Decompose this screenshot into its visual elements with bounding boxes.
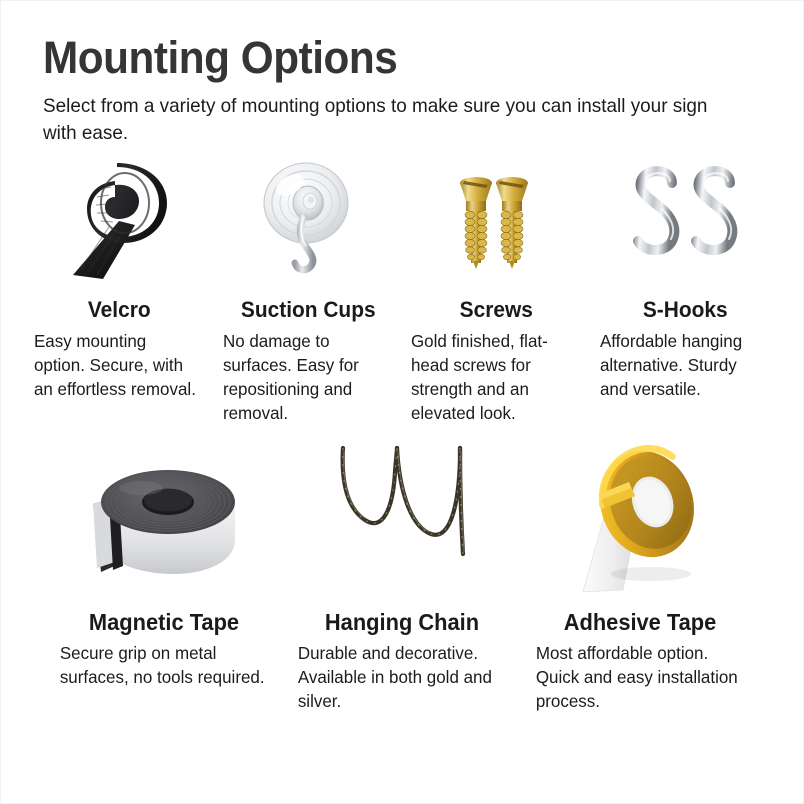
adhesive-tape-roll-icon [530,439,750,599]
option-magnetic-tape[interactable]: Magnetic Tape Secure grip on metal surfa… [45,439,283,713]
velcro-strap-icon [32,157,207,287]
option-description: No damage to surfaces. Easy for repositi… [221,329,390,425]
header: Mounting Options Select from a variety o… [1,1,803,147]
s-hooks-icon [598,157,773,287]
magnetic-tape-roll-icon [54,439,274,599]
suction-cup-hook-icon [221,157,396,287]
hanging-chain-icon [292,439,512,599]
option-description: Durable and decorative. Available in bot… [292,641,505,713]
page-subtitle: Select from a variety of mounting option… [43,93,712,147]
option-velcro[interactable]: Velcro Easy mounting option. Secure, wit… [25,157,214,425]
option-title: Velcro [36,297,202,323]
option-adhesive-tape[interactable]: Adhesive Tape Most affordable option. Qu… [521,439,759,713]
mounting-options-row-1: Velcro Easy mounting option. Secure, wit… [1,147,803,425]
option-description: Easy mounting option. Secure, with an ef… [32,329,201,401]
option-description: Secure grip on metal surfaces, no tools … [54,641,267,689]
option-title: Adhesive Tape [535,609,744,635]
option-s-hooks[interactable]: S-Hooks Affordable hanging alternative. … [591,157,780,425]
option-suction-cups[interactable]: Suction Cups No damage to surfaces. Easy… [214,157,403,425]
mounting-options-row-2: Magnetic Tape Secure grip on metal surfa… [1,425,803,713]
option-title: Magnetic Tape [59,609,268,635]
option-title: Suction Cups [225,297,391,323]
option-title: Hanging Chain [297,609,506,635]
option-description: Affordable hanging alternative. Sturdy a… [598,329,767,401]
option-description: Most affordable option. Quick and easy i… [530,641,743,713]
option-title: Screws [413,297,579,323]
gold-screws-icon [409,157,584,287]
page-title: Mounting Options [43,31,718,85]
option-description: Gold finished, flat-head screws for stre… [409,329,578,425]
option-hanging-chain[interactable]: Hanging Chain Durable and decorative. Av… [283,439,521,713]
mounting-options-card: Mounting Options Select from a variety o… [0,0,804,804]
option-title: S-Hooks [602,297,768,323]
option-screws[interactable]: Screws Gold finished, flat-head screws f… [402,157,591,425]
